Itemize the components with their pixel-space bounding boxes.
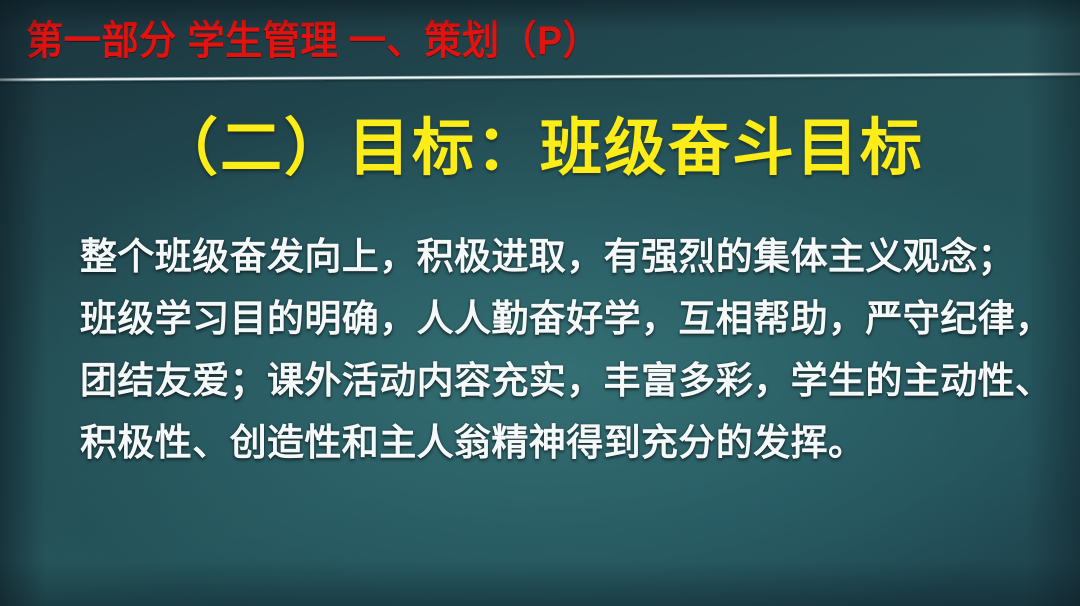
slide-header-breadcrumb: 第一部分 学生管理 一、策划（P） [26,18,600,64]
slide-title: （二）目标：班级奋斗目标 [0,112,1080,186]
presentation-slide: 第一部分 学生管理 一、策划（P） （二）目标：班级奋斗目标 整个班级奋发向上，… [0,0,1080,606]
body-line: 整个班级奋发向上，积极进取，有强烈的集体主义观念； [80,226,1020,288]
header-divider-rule [0,72,1080,82]
body-line: 团结友爱；课外活动内容充实，丰富多彩，学生的主动性、 [80,350,1020,412]
body-line: 班级学习目的明确，人人勤奋好学，互相帮助，严守纪律， [80,288,1020,350]
slide-body-text: 整个班级奋发向上，积极进取，有强烈的集体主义观念； 班级学习目的明确，人人勤奋好… [80,226,1020,474]
body-line: 积极性、创造性和主人翁精神得到充分的发挥。 [80,412,1020,474]
